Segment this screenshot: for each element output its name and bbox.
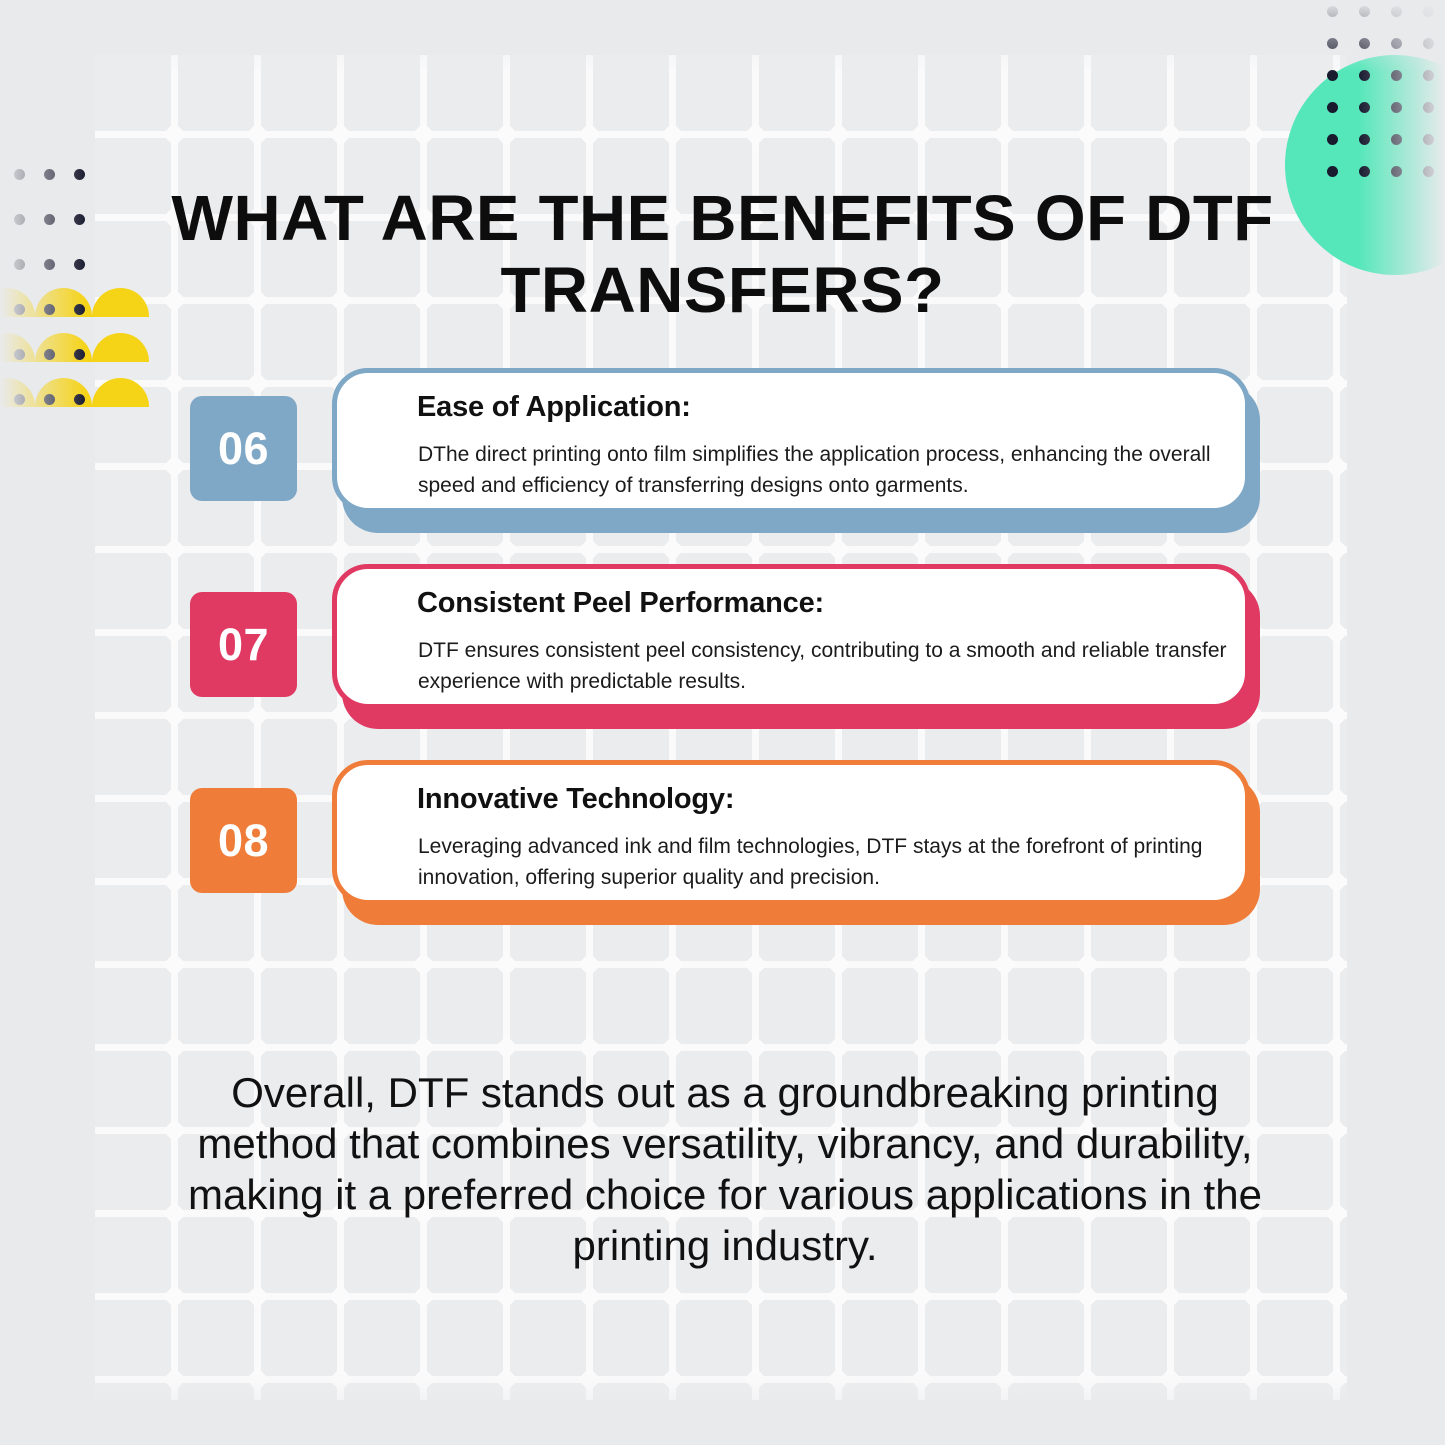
navy-dot-decoration bbox=[1391, 70, 1402, 81]
navy-dot-decoration bbox=[14, 259, 25, 270]
grid-diamond bbox=[328, 1367, 352, 1391]
card-surface: Ease of Application: DThe direct printin… bbox=[332, 368, 1250, 513]
grid-diamond bbox=[162, 454, 186, 478]
grid-diamond bbox=[1324, 288, 1347, 312]
navy-dot-decoration bbox=[44, 349, 55, 360]
grid-diamond bbox=[826, 952, 850, 976]
navy-dot-decoration bbox=[1391, 6, 1402, 17]
grid-diamond bbox=[411, 1035, 435, 1059]
navy-dot-decoration bbox=[1391, 102, 1402, 113]
grid-diamond bbox=[660, 122, 684, 146]
page-title: WHAT ARE THE BENEFITS OF DTF TRANSFERS? bbox=[164, 183, 1281, 326]
grid-diamond bbox=[660, 952, 684, 976]
card-body-text: DThe direct printing onto film simplifie… bbox=[418, 439, 1228, 501]
grid-diamond bbox=[328, 1284, 352, 1308]
navy-dot-decoration bbox=[1359, 166, 1370, 177]
navy-dot-decoration bbox=[1359, 102, 1370, 113]
grid-diamond bbox=[1158, 952, 1182, 976]
grid-diamond bbox=[743, 1035, 767, 1059]
grid-diamond bbox=[909, 1035, 933, 1059]
grid-diamond bbox=[660, 1035, 684, 1059]
grid-diamond bbox=[162, 122, 186, 146]
grid-diamond bbox=[494, 1035, 518, 1059]
grid-diamond bbox=[1241, 952, 1265, 976]
grid-diamond bbox=[494, 1367, 518, 1391]
grid-diamond bbox=[1324, 1118, 1347, 1142]
card-body-text: DTF ensures consistent peel consistency,… bbox=[418, 635, 1228, 697]
card-container: Ease of Application: DThe direct printin… bbox=[332, 368, 1260, 533]
navy-dot-decoration bbox=[1423, 134, 1434, 145]
grid-diamond bbox=[1241, 537, 1265, 561]
grid-diamond bbox=[162, 869, 186, 893]
navy-dot-decoration bbox=[14, 394, 25, 405]
grid-diamond bbox=[1075, 122, 1099, 146]
navy-dot-decoration bbox=[74, 259, 85, 270]
grid-diamond bbox=[1075, 537, 1099, 561]
grid-diamond bbox=[826, 537, 850, 561]
grid-diamond bbox=[1241, 122, 1265, 146]
badge-label: 06 bbox=[218, 423, 269, 475]
grid-diamond bbox=[162, 1118, 186, 1142]
grid-diamond bbox=[577, 1367, 601, 1391]
grid-diamond bbox=[1158, 1284, 1182, 1308]
navy-dot-decoration bbox=[74, 169, 85, 180]
card-surface: Consistent Peel Performance: DTF ensures… bbox=[332, 564, 1250, 709]
grid-diamond bbox=[743, 952, 767, 976]
grid-diamond bbox=[162, 537, 186, 561]
grid-diamond bbox=[992, 952, 1016, 976]
navy-dot-decoration bbox=[1327, 166, 1338, 177]
navy-dot-decoration bbox=[44, 169, 55, 180]
grid-diamond bbox=[743, 122, 767, 146]
grid-diamond bbox=[992, 1367, 1016, 1391]
badge-number-06: 06 bbox=[190, 396, 297, 501]
badge-label: 08 bbox=[218, 815, 269, 867]
summary-paragraph: Overall, DTF stands out as a groundbreak… bbox=[185, 1067, 1265, 1271]
navy-dot-decoration bbox=[74, 349, 85, 360]
grid-diamond bbox=[1324, 1284, 1347, 1308]
navy-dot-decoration bbox=[44, 259, 55, 270]
grid-diamond bbox=[162, 1201, 186, 1225]
grid-diamond bbox=[577, 1035, 601, 1059]
grid-diamond bbox=[411, 537, 435, 561]
navy-dot-decoration bbox=[1327, 38, 1338, 49]
navy-dot-decoration bbox=[74, 304, 85, 315]
navy-dot-decoration bbox=[1423, 38, 1434, 49]
grid-diamond bbox=[245, 537, 269, 561]
badge-number-07: 07 bbox=[190, 592, 297, 697]
benefit-card-06: 06 Ease of Application: DThe direct prin… bbox=[190, 368, 1260, 528]
grid-diamond bbox=[992, 1035, 1016, 1059]
grid-diamond bbox=[1075, 1284, 1099, 1308]
grid-diamond bbox=[1324, 869, 1347, 893]
grid-diamond bbox=[162, 952, 186, 976]
grid-diamond bbox=[660, 537, 684, 561]
navy-dot-decoration bbox=[1423, 102, 1434, 113]
grid-diamond bbox=[162, 371, 186, 395]
navy-dot-decoration bbox=[1327, 6, 1338, 17]
navy-dot-decoration bbox=[1391, 38, 1402, 49]
grid-diamond bbox=[1075, 952, 1099, 976]
grid-diamond bbox=[328, 1035, 352, 1059]
grid-diamond bbox=[992, 122, 1016, 146]
grid-diamond bbox=[660, 1367, 684, 1391]
grid-diamond bbox=[743, 1284, 767, 1308]
grid-diamond bbox=[743, 537, 767, 561]
navy-dot-decoration bbox=[44, 214, 55, 225]
navy-dot-decoration bbox=[14, 169, 25, 180]
navy-dot-decoration bbox=[1359, 38, 1370, 49]
grid-diamond bbox=[162, 786, 186, 810]
grid-diamond bbox=[1324, 1201, 1347, 1225]
grid-diamond bbox=[909, 1284, 933, 1308]
navy-dot-decoration bbox=[14, 214, 25, 225]
navy-dot-decoration bbox=[1327, 70, 1338, 81]
grid-diamond bbox=[162, 1284, 186, 1308]
navy-dot-decoration bbox=[44, 394, 55, 405]
grid-diamond bbox=[411, 122, 435, 146]
grid-diamond bbox=[245, 1035, 269, 1059]
grid-diamond bbox=[577, 537, 601, 561]
navy-dot-decoration bbox=[1359, 134, 1370, 145]
grid-diamond bbox=[660, 1284, 684, 1308]
grid-diamond bbox=[1158, 122, 1182, 146]
grid-diamond bbox=[411, 1367, 435, 1391]
infographic-page: WHAT ARE THE BENEFITS OF DTF TRANSFERS? … bbox=[0, 0, 1445, 1445]
grid-diamond bbox=[411, 952, 435, 976]
grid-diamond bbox=[162, 703, 186, 727]
grid-diamond bbox=[909, 537, 933, 561]
grid-diamond bbox=[577, 952, 601, 976]
navy-dot-decoration bbox=[14, 349, 25, 360]
grid-diamond bbox=[1158, 1035, 1182, 1059]
grid-diamond bbox=[1324, 952, 1347, 976]
grid-diamond bbox=[1241, 1284, 1265, 1308]
grid-diamond bbox=[1241, 1367, 1265, 1391]
grid-diamond bbox=[494, 537, 518, 561]
grid-diamond bbox=[1324, 1367, 1347, 1391]
grid-diamond bbox=[1241, 1035, 1265, 1059]
navy-dot-decoration bbox=[1423, 70, 1434, 81]
navy-dot-decoration bbox=[74, 214, 85, 225]
grid-diamond bbox=[1324, 620, 1347, 644]
grid-diamond bbox=[1324, 786, 1347, 810]
grid-diamond bbox=[826, 1035, 850, 1059]
grid-diamond bbox=[826, 1284, 850, 1308]
grid-diamond bbox=[245, 952, 269, 976]
grid-diamond bbox=[1324, 371, 1347, 395]
grid-diamond bbox=[1158, 1367, 1182, 1391]
navy-dot-decoration bbox=[1391, 134, 1402, 145]
navy-dot-decoration bbox=[1391, 166, 1402, 177]
grid-diamond bbox=[494, 1284, 518, 1308]
grid-diamond bbox=[909, 1367, 933, 1391]
grid-diamond bbox=[328, 122, 352, 146]
grid-diamond bbox=[494, 122, 518, 146]
card-heading: Ease of Application: bbox=[417, 391, 691, 424]
navy-dot-decoration bbox=[1423, 166, 1434, 177]
grid-diamond bbox=[909, 122, 933, 146]
navy-dot-decoration bbox=[1359, 6, 1370, 17]
grid-diamond bbox=[992, 1284, 1016, 1308]
grid-diamond bbox=[743, 1367, 767, 1391]
grid-diamond bbox=[1324, 454, 1347, 478]
grid-diamond bbox=[328, 537, 352, 561]
grid-diamond bbox=[909, 952, 933, 976]
navy-dot-decoration bbox=[1359, 70, 1370, 81]
card-heading: Consistent Peel Performance: bbox=[417, 587, 824, 620]
grid-diamond bbox=[1324, 703, 1347, 727]
grid-diamond bbox=[1324, 537, 1347, 561]
card-container: Consistent Peel Performance: DTF ensures… bbox=[332, 564, 1260, 729]
grid-diamond bbox=[245, 1367, 269, 1391]
card-body-text: Leveraging advanced ink and film technol… bbox=[418, 831, 1228, 893]
grid-diamond bbox=[245, 1284, 269, 1308]
grid-diamond bbox=[1075, 1367, 1099, 1391]
grid-diamond bbox=[1324, 1035, 1347, 1059]
grid-diamond bbox=[1075, 1035, 1099, 1059]
navy-dot-decoration bbox=[74, 394, 85, 405]
grid-diamond bbox=[826, 122, 850, 146]
grid-diamond bbox=[162, 1367, 186, 1391]
grid-diamond bbox=[1158, 537, 1182, 561]
grid-diamond bbox=[411, 1284, 435, 1308]
card-container: Innovative Technology: Leveraging advanc… bbox=[332, 760, 1260, 925]
navy-dot-decoration bbox=[1327, 102, 1338, 113]
grid-diamond bbox=[826, 1367, 850, 1391]
navy-dot-decoration bbox=[1423, 6, 1434, 17]
grid-diamond bbox=[162, 1035, 186, 1059]
navy-dot-decoration bbox=[14, 304, 25, 315]
grid-diamond bbox=[328, 952, 352, 976]
grid-diamond bbox=[245, 122, 269, 146]
card-heading: Innovative Technology: bbox=[417, 783, 734, 816]
card-surface: Innovative Technology: Leveraging advanc… bbox=[332, 760, 1250, 905]
badge-label: 07 bbox=[218, 619, 269, 671]
benefit-card-07: 07 Consistent Peel Performance: DTF ensu… bbox=[190, 564, 1260, 724]
benefit-card-08: 08 Innovative Technology: Leveraging adv… bbox=[190, 760, 1260, 920]
navy-dot-decoration bbox=[44, 304, 55, 315]
badge-number-08: 08 bbox=[190, 788, 297, 893]
grid-diamond bbox=[494, 952, 518, 976]
navy-dot-decoration bbox=[1327, 134, 1338, 145]
grid-diamond bbox=[992, 537, 1016, 561]
grid-diamond bbox=[577, 1284, 601, 1308]
grid-diamond bbox=[162, 620, 186, 644]
grid-diamond bbox=[577, 122, 601, 146]
